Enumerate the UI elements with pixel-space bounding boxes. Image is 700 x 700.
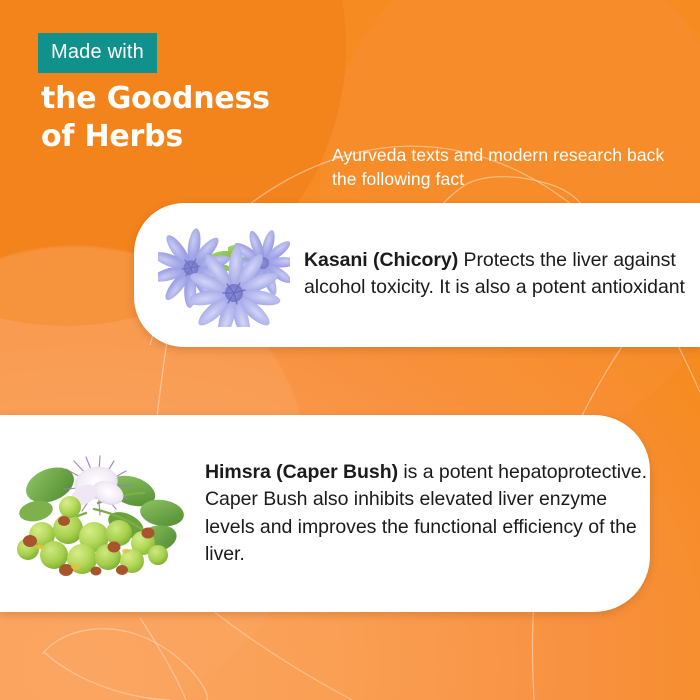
herb-card-kasani: Kasani (Chicory) Protects the liver agai… — [134, 203, 700, 347]
herb-card-kasani-text: Kasani (Chicory) Protects the liver agai… — [304, 247, 700, 302]
caper-bush-image — [6, 439, 191, 589]
herb-name-kasani: Kasani (Chicory) — [304, 249, 458, 271]
chicory-flowers-image — [158, 223, 290, 327]
herb-name-himsra: Himsra (Caper Bush) — [205, 461, 398, 483]
herb-card-himsra: Himsra (Caper Bush) is a potent hepatopr… — [0, 415, 650, 612]
herb-goodness-poster: Made with the Goodness of Herbs Ayurveda… — [0, 0, 700, 700]
page-title: the Goodness of Herbs — [41, 80, 341, 156]
made-with-badge: Made with — [38, 33, 157, 73]
subtitle: Ayurveda texts and modern research back … — [332, 143, 682, 191]
page-title-line-2: of Herbs — [41, 118, 341, 156]
page-title-line-1: the Goodness — [41, 81, 270, 116]
herb-card-himsra-text: Himsra (Caper Bush) is a potent hepatopr… — [205, 459, 650, 569]
subtitle-line-1: Ayurveda texts and modern research — [332, 145, 622, 165]
